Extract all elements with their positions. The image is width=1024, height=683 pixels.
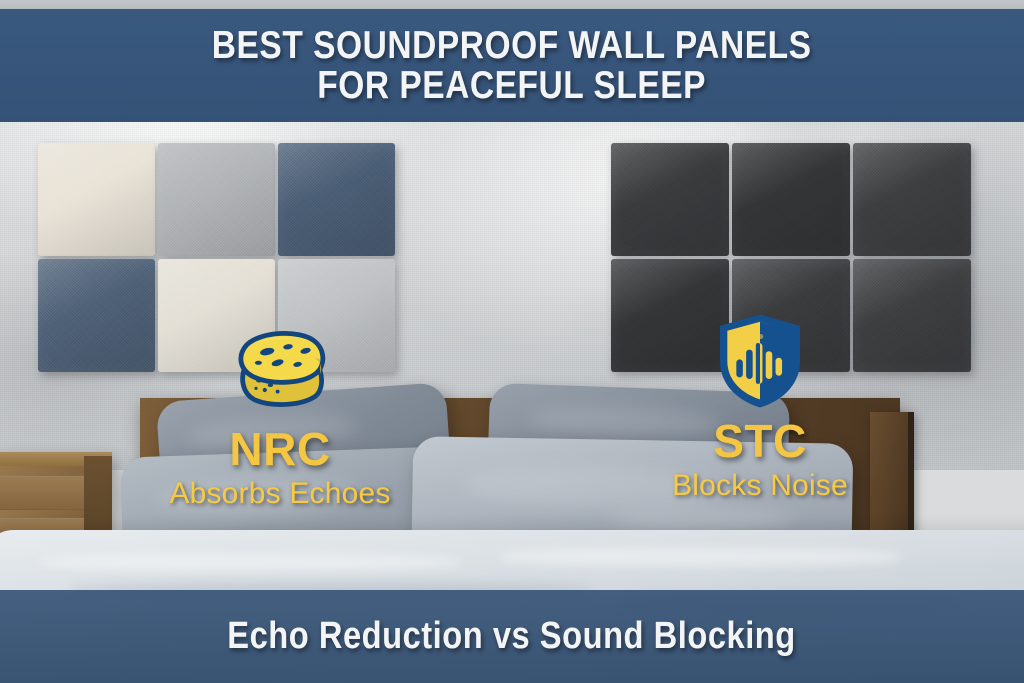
poster-title: BEST SOUNDPROOF WALL PANELS FOR PEACEFUL… <box>212 26 812 106</box>
acoustic-panel <box>38 259 155 372</box>
feature-title-stc: STC <box>713 418 807 464</box>
poster-title-line1: BEST SOUNDPROOF WALL PANELS <box>212 24 812 67</box>
poster-title-line2: FOR PEACEFUL SLEEP <box>212 66 812 106</box>
sponge-icon <box>232 320 328 412</box>
poster-canvas: BEST SOUNDPROOF WALL PANELS FOR PEACEFUL… <box>0 0 1024 683</box>
bottom-caption-banner: Echo Reduction vs Sound Blocking <box>0 590 1024 683</box>
feature-badge-stc: STC Blocks Noise <box>620 312 900 503</box>
top-title-banner: BEST SOUNDPROOF WALL PANELS FOR PEACEFUL… <box>0 9 1024 122</box>
top-wall-strip <box>0 0 1024 9</box>
acoustic-panel <box>278 143 395 256</box>
feature-badge-nrc: NRC Absorbs Echoes <box>140 320 420 511</box>
feature-subtitle-nrc: Absorbs Echoes <box>169 477 390 511</box>
acoustic-panel <box>38 143 155 256</box>
poster-caption: Echo Reduction vs Sound Blocking <box>228 617 796 656</box>
nightstand-drawer <box>0 476 84 510</box>
feature-title-nrc: NRC <box>229 426 330 472</box>
acoustic-panel <box>732 143 850 256</box>
acoustic-panel <box>158 143 275 256</box>
shield-soundwave-icon <box>715 312 805 410</box>
feature-subtitle-stc: Blocks Noise <box>672 469 848 503</box>
acoustic-panel <box>853 143 971 256</box>
acoustic-panel <box>611 143 729 256</box>
